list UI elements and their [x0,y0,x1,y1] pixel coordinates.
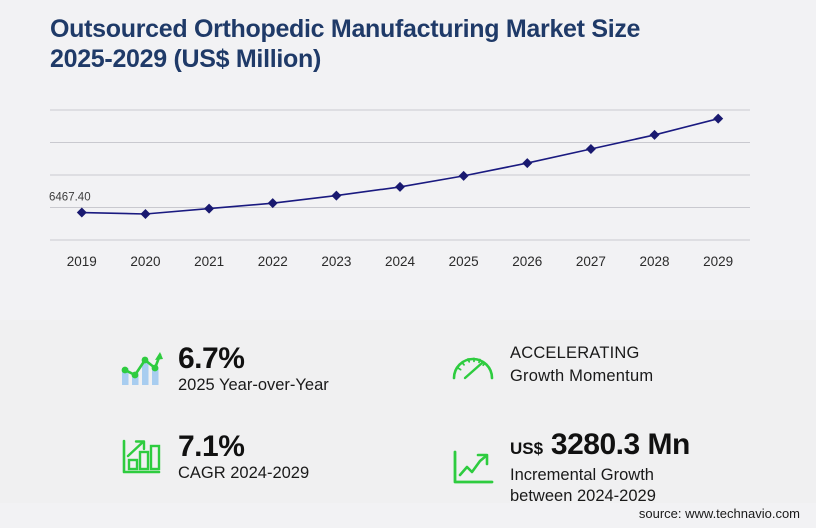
chart-point-labels: 6467.40 [49,192,91,204]
chart-x-tick-2019: 2019 [67,254,97,269]
chart-x-tick-2026: 2026 [512,254,542,269]
page-title: Outsourced Orthopedic Manufacturing Mark… [50,14,750,74]
stat-value-growth-momentum: ACCELERATING [510,342,653,365]
chart-svg: 6467.40 20192020202120222023202420252026… [0,90,816,290]
stat-label-incremental-growth-2: between 2024-2029 [510,486,690,507]
stat-text-yoy: 6.7% 2025 Year-over-Year [178,342,329,396]
chart-x-tick-2020: 2020 [130,254,160,269]
line-chart-arrow-icon [450,447,496,489]
stat-label-cagr: CAGR 2024-2029 [178,463,309,484]
chart-x-tick-2027: 2027 [576,254,606,269]
stat-text-growth-momentum: ACCELERATING Growth Momentum [510,342,653,388]
bar-chart-trend-icon [118,348,164,390]
chart-x-axis-labels: 2019202020212022202320242025202620272028… [67,254,733,269]
stat-value-cagr: 7.1% [178,430,309,463]
stat-card-incremental-growth: US$ 3280.3 Mn Incremental Growth between… [450,428,690,507]
stat-value-yoy: 6.7% [178,342,329,375]
market-size-line-chart: 6467.40 20192020202120222023202420252026… [0,90,816,290]
chart-x-tick-2023: 2023 [321,254,351,269]
chart-series-line [82,119,718,214]
chart-marker [140,209,150,219]
stat-card-growth-momentum: ACCELERATING Growth Momentum [450,342,653,388]
chart-marker [395,182,405,192]
chart-x-tick-2024: 2024 [385,254,416,269]
stat-amount-incremental-growth: 3280.3 Mn [551,428,690,461]
chart-marker [204,204,214,214]
stats-panel: 6.7% 2025 Year-over-Year ACCELERATING Gr… [0,320,816,503]
page-title-line-2: 2025-2029 (US$ Million) [50,44,750,74]
bar-chart-arrow-icon [118,436,164,478]
chart-marker [522,158,532,168]
chart-marker [713,114,723,124]
chart-marker [650,130,660,140]
chart-x-tick-2025: 2025 [449,254,479,269]
chart-marker [77,208,87,218]
stat-unit-incremental-growth: US$ [510,439,543,458]
chart-x-tick-2029: 2029 [703,254,733,269]
gauge-icon [450,344,496,386]
chart-point-label: 6467.40 [49,192,91,204]
stat-text-cagr: 7.1% CAGR 2024-2029 [178,430,309,484]
stat-label-yoy: 2025 Year-over-Year [178,375,329,396]
source-attribution: source: www.technavio.com [639,506,800,521]
chart-marker [459,171,469,181]
chart-x-tick-2021: 2021 [194,254,224,269]
page-title-line-1: Outsourced Orthopedic Manufacturing Mark… [50,14,750,44]
stat-label-growth-momentum: Growth Momentum [510,365,653,388]
chart-marker [331,191,341,201]
stat-text-incremental-growth: US$ 3280.3 Mn Incremental Growth between… [510,428,690,507]
chart-marker [586,144,596,154]
chart-markers [77,114,723,219]
chart-x-tick-2022: 2022 [258,254,288,269]
chart-x-tick-2028: 2028 [640,254,670,269]
stat-value-incremental-growth: US$ 3280.3 Mn [510,428,690,465]
stat-label-incremental-growth-1: Incremental Growth [510,465,690,486]
stat-card-cagr: 7.1% CAGR 2024-2029 [118,430,309,484]
chart-gridlines [50,110,750,240]
chart-marker [268,198,278,208]
stat-card-yoy: 6.7% 2025 Year-over-Year [118,342,329,396]
